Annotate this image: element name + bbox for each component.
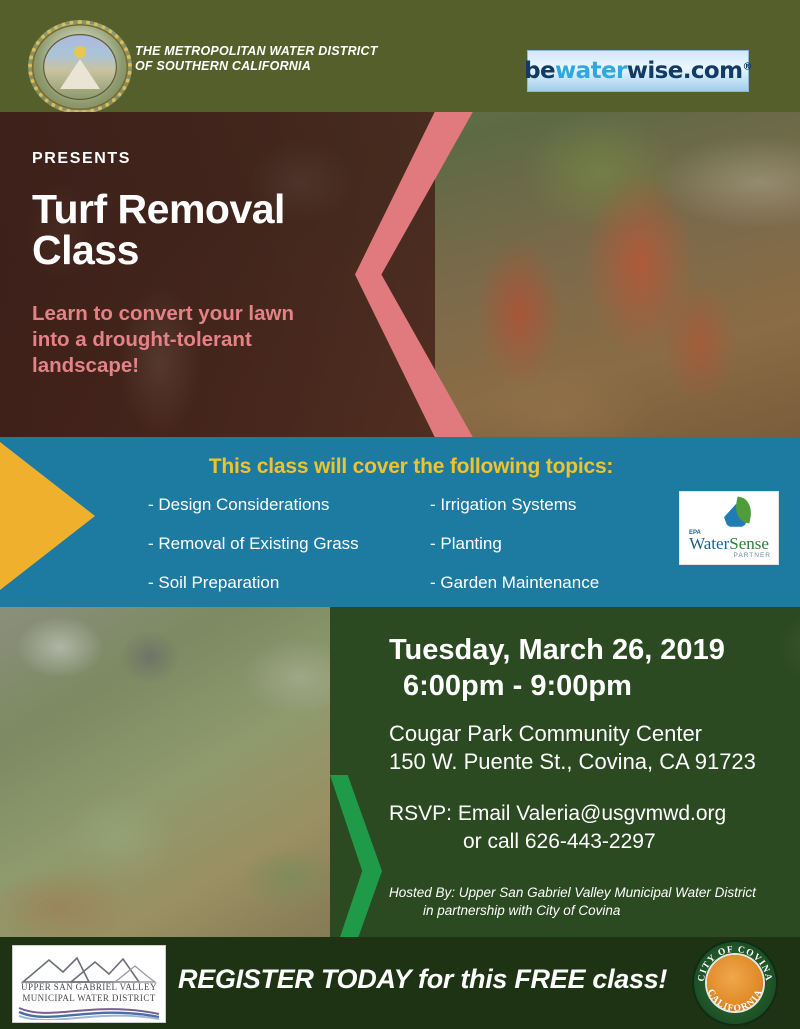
page-title-line2: Class <box>32 230 392 271</box>
hero-section: PRESENTS Turf Removal Class Learn to con… <box>0 112 800 437</box>
mwd-wordmark-line1: THE METROPOLITAN WATER DISTRICT <box>135 44 378 59</box>
covina-seal-text: CITY OF COVINA CALIFORNIA <box>694 942 776 1024</box>
hero-subtitle-line3: landscape! <box>32 353 392 379</box>
svg-text:CITY OF COVINA: CITY OF COVINA <box>697 945 773 982</box>
flyer-page: THE METROPOLITAN WATER DISTRICT OF SOUTH… <box>0 0 800 1029</box>
hero-subtitle-line2: into a drought-tolerant <box>32 327 392 353</box>
bewaterwise-wise: wise.com <box>627 58 743 84</box>
rsvp-phone-line[interactable]: or call 626-443-2297 <box>463 828 789 856</box>
city-of-covina-seal-icon: CITY OF COVINA CALIFORNIA <box>694 942 776 1024</box>
hero-text-block: PRESENTS Turf Removal Class Learn to con… <box>32 112 392 379</box>
topics-list: - Design Considerations - Removal of Exi… <box>148 485 668 602</box>
usgvmwd-wordmark-line2: MUNICIPAL WATER DISTRICT <box>13 993 165 1004</box>
event-rsvp: RSVP: Email Valeria@usgvmwd.org or call … <box>389 800 789 856</box>
register-cta-text: REGISTER TODAY for this FREE class! <box>178 964 667 995</box>
footer-bar: UPPER SAN GABRIEL VALLEY MUNICIPAL WATER… <box>0 937 800 1029</box>
page-title-line1: Turf Removal <box>32 189 392 230</box>
topics-column-left: - Design Considerations - Removal of Exi… <box>148 485 430 602</box>
event-date: Tuesday, March 26, 2019 <box>389 632 789 668</box>
presents-label: PRESENTS <box>32 150 392 168</box>
event-venue-address: 150 W. Puente St., Covina, CA 91723 <box>389 748 789 776</box>
event-text-block: Tuesday, March 26, 2019 6:00pm - 9:00pm … <box>389 607 789 920</box>
list-item: - Planting <box>430 524 668 563</box>
list-item: - Irrigation Systems <box>430 485 668 524</box>
list-item: - Garden Maintenance <box>430 563 668 602</box>
usgvmwd-wordmark: UPPER SAN GABRIEL VALLEY MUNICIPAL WATER… <box>13 982 165 1004</box>
watersense-sense: Sense <box>729 534 769 553</box>
water-wave-icon <box>17 1004 161 1020</box>
mwd-wordmark: THE METROPOLITAN WATER DISTRICT OF SOUTH… <box>135 44 378 74</box>
list-item: - Soil Preparation <box>148 563 430 602</box>
list-item: - Design Considerations <box>148 485 430 524</box>
epa-watersense-partner-logo: EPA WaterSense PARTNER <box>679 491 779 565</box>
water-droplet-leaf-icon <box>724 498 750 532</box>
rsvp-email-line[interactable]: RSVP: Email Valeria@usgvmwd.org <box>389 800 789 828</box>
watersense-wordmark: WaterSense <box>687 534 771 554</box>
list-item: - Removal of Existing Grass <box>148 524 430 563</box>
mountain-range-icon <box>19 952 159 984</box>
event-location: Cougar Park Community Center 150 W. Puen… <box>389 720 789 776</box>
header-bar: THE METROPOLITAN WATER DISTRICT OF SOUTH… <box>0 0 800 112</box>
usgvmwd-logo: UPPER SAN GABRIEL VALLEY MUNICIPAL WATER… <box>12 945 166 1023</box>
registered-mark-icon: ® <box>742 61 751 72</box>
host-line2: in partnership with City of Covina <box>423 902 789 920</box>
sun-icon <box>74 46 86 58</box>
topics-column-right: - Irrigation Systems - Planting - Garden… <box>430 485 668 602</box>
bewaterwise-be: be <box>524 58 555 84</box>
bewaterwise-water: water <box>555 58 627 84</box>
bewaterwise-wordmark: bewaterwise.com® <box>524 58 752 84</box>
event-details-section: Tuesday, March 26, 2019 6:00pm - 9:00pm … <box>0 607 800 937</box>
metropolitan-water-district-seal-icon <box>28 20 124 106</box>
watersense-partner-label: PARTNER <box>687 552 771 559</box>
topics-heading: This class will cover the following topi… <box>0 455 800 479</box>
mountain-icon <box>60 59 100 89</box>
watersense-water: Water <box>689 534 729 553</box>
event-datetime: Tuesday, March 26, 2019 6:00pm - 9:00pm <box>389 632 789 704</box>
bewaterwise-logo[interactable]: bewaterwise.com® <box>527 50 749 92</box>
hero-subtitle-line1: Learn to convert your lawn <box>32 301 392 327</box>
svg-text:CALIFORNIA: CALIFORNIA <box>705 988 765 1014</box>
hero-subtitle: Learn to convert your lawn into a drough… <box>32 301 392 379</box>
event-venue-name: Cougar Park Community Center <box>389 720 789 748</box>
host-line1: Hosted By: Upper San Gabriel Valley Muni… <box>389 884 789 902</box>
mwd-wordmark-line2: OF SOUTHERN CALIFORNIA <box>135 59 378 74</box>
usgvmwd-wordmark-line1: UPPER SAN GABRIEL VALLEY <box>13 982 165 993</box>
event-time: 6:00pm - 9:00pm <box>403 668 789 704</box>
page-title: Turf Removal Class <box>32 189 392 271</box>
event-host-note: Hosted By: Upper San Gabriel Valley Muni… <box>389 884 789 920</box>
